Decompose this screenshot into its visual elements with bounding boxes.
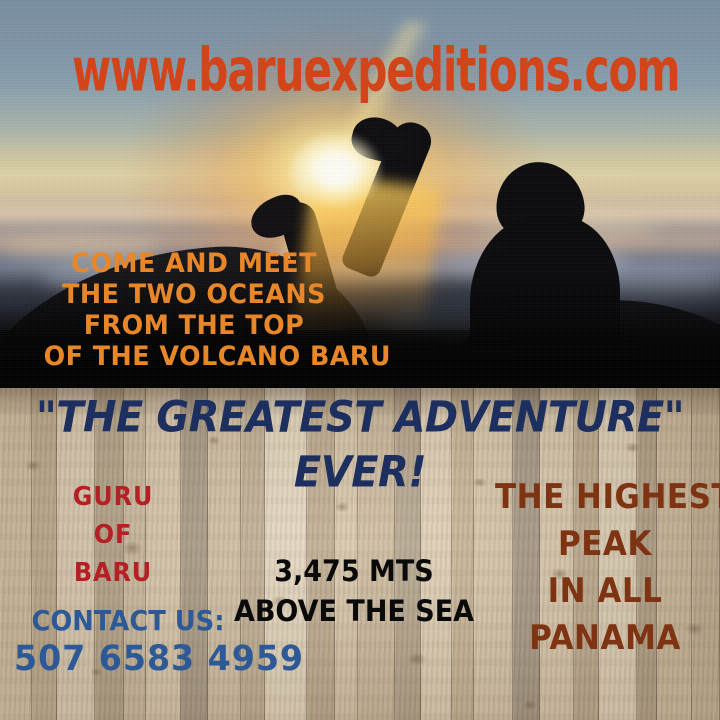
contact-block: CONTACT US: 507 6583 4959: [8, 604, 248, 680]
peak-line-3: IN ALL: [495, 566, 715, 617]
wood-knot: [520, 698, 540, 712]
tagline-line-3: FROM THE TOP: [44, 310, 345, 341]
brand-line-3: BARU: [44, 554, 182, 592]
sunrise-photo: www.baruexpeditions.com COME AND MEET TH…: [0, 0, 720, 388]
peak-line-4: PANAMA: [495, 613, 715, 664]
sun-icon: [288, 130, 384, 210]
website-url[interactable]: www.baruexpeditions.com: [72, 40, 648, 103]
peak-line-1: THE HIGHEST: [495, 472, 715, 523]
wood-knot: [404, 650, 430, 668]
altitude-block: 3,475 MTS ABOVE THE SEA: [230, 552, 478, 632]
altitude-value: 3,475 MTS: [230, 550, 478, 594]
peak-line-2: PEAK: [495, 519, 715, 570]
contact-label: CONTACT US:: [18, 604, 239, 638]
brand-block: GURU OF BARU: [38, 478, 188, 592]
brand-line-2: OF: [44, 516, 182, 554]
tagline-line-1: COME AND MEET: [44, 248, 345, 279]
wood-knot: [332, 500, 352, 514]
tagline-line-4: OF THE VOLCANO BARU: [44, 341, 345, 372]
tagline-block: COME AND MEET THE TWO OCEANS FROM THE TO…: [34, 248, 354, 372]
contact-phone-number[interactable]: 507 6583 4959: [14, 638, 242, 680]
brand-line-1: GURU: [44, 478, 182, 516]
headline-line-1: "THE GREATEST ADVENTURE": [36, 393, 684, 442]
altitude-caption: ABOVE THE SEA: [230, 590, 478, 634]
peak-claim-block: THE HIGHEST PEAK IN ALL PANAMA: [495, 474, 715, 662]
promotional-poster: www.baruexpeditions.com COME AND MEET TH…: [0, 0, 720, 720]
tagline-line-2: THE TWO OCEANS: [44, 279, 345, 310]
